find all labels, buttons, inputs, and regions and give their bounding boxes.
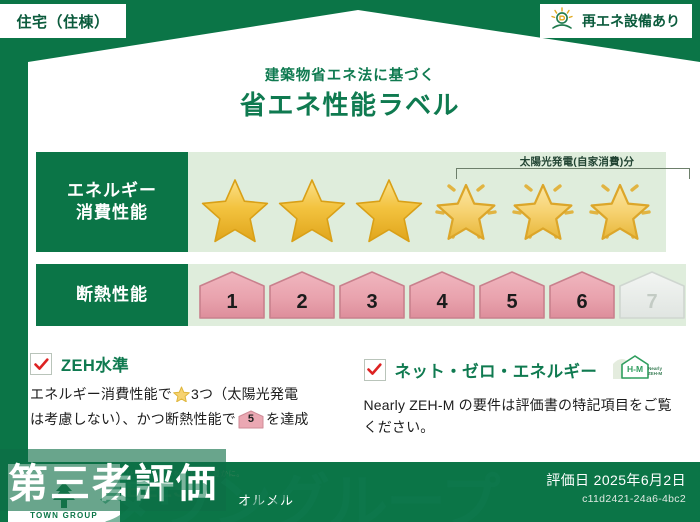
criteria-columns: ZEH水準 エネルギー消費性能で3つ（太陽光発電 は考慮しない）、かつ断熱性能で… (30, 352, 675, 438)
energy-label-card: 住宅（住棟） 再エネ設備あり 建築物省エネ法に基づく 省エネ性能ラベル (0, 0, 700, 522)
zeh-body-part-c: は考慮しない）、かつ断熱性能で (30, 411, 236, 427)
insulation-level-badge: 1 (198, 270, 266, 320)
insulation-level-number: 4 (408, 291, 476, 314)
label-title: 省エネ性能ラベル (0, 85, 700, 122)
insulation-performance-value: 1 2 3 4 (188, 264, 686, 326)
insulation-level-number: 6 (548, 291, 616, 314)
insulation-level-scale: 1 2 3 4 (188, 270, 686, 320)
insulation-level-number: 5 (478, 291, 546, 314)
insulation-level-number: 7 (618, 291, 686, 314)
star-icon (173, 386, 190, 409)
insulation-badge-inline-number: 5 (238, 411, 264, 428)
energy-performance-value: 太陽光発電(自家消費)分 (188, 152, 666, 252)
evaluation-date: 評価日 2025年6月2日 (546, 470, 686, 490)
bels-mark: BELS (126, 479, 244, 501)
brand-name: オルメル (238, 490, 294, 509)
label-footer: TOWN GROUP ひとを、まちを、もっと豊かに。 BELS オルメル 評価日… (0, 462, 700, 522)
zeh-body-part-d: を達成 (266, 411, 309, 427)
insulation-badge-inline: 5 (238, 410, 264, 429)
insulation-key-label: 断熱性能 (76, 284, 148, 306)
svg-text:H-M: H-M (627, 364, 643, 374)
insulation-performance-key: 断熱性能 (36, 264, 188, 326)
zeh-criteria-header: ZEH水準 (30, 352, 342, 376)
netzero-criteria-body: Nearly ZEH-M の要件は評価書の特記項目をご覧ください。 (364, 395, 676, 438)
building-type-label: 住宅（住棟） (16, 11, 109, 32)
netzero-criteria-column: ネット・ゼロ・エネルギー H-M Nearly ZEH-M Nearly ZEH… (364, 352, 676, 438)
tree-logo-icon (36, 479, 92, 511)
zeh-body-part-b: 3つ（太陽光発電 (191, 386, 298, 402)
evaluation-id: c11d2421-24a6-4bc2 (546, 493, 686, 505)
town-group-label: TOWN GROUP (30, 511, 98, 520)
insulation-level-badge: 4 (408, 270, 476, 320)
solar-annotation-label: 太陽光発電(自家消費)分 (462, 154, 692, 169)
insulation-level-badge: 2 (268, 270, 336, 320)
insulation-level-number: 2 (268, 291, 336, 314)
insulation-level-number: 1 (198, 291, 266, 314)
energy-key-line2: 消費性能 (76, 202, 148, 224)
town-group-logo: TOWN GROUP (8, 464, 120, 522)
solar-sun-icon (549, 7, 575, 36)
zeh-body-part-a: エネルギー消費性能で (30, 386, 172, 402)
star-icon-solar (506, 174, 580, 244)
check-icon (364, 359, 386, 381)
zeh-criteria-column: ZEH水準 エネルギー消費性能で3つ（太陽光発電 は考慮しない）、かつ断熱性能で… (30, 352, 342, 438)
check-icon (30, 353, 52, 375)
star-icon-solar (583, 174, 657, 244)
insulation-level-number: 3 (338, 291, 406, 314)
insulation-level-badge: 6 (548, 270, 616, 320)
energy-performance-row: エネルギー 消費性能 太陽光発電(自家消費)分 (36, 152, 666, 252)
netzero-criteria-header: ネット・ゼロ・エネルギー H-M Nearly ZEH-M (364, 352, 676, 387)
energy-key-line1: エネルギー (67, 180, 157, 202)
energy-performance-key: エネルギー 消費性能 (36, 152, 188, 252)
star-icon-filled (198, 174, 272, 244)
star-icon-solar (429, 174, 503, 244)
evaluation-info: 評価日 2025年6月2日 c11d2421-24a6-4bc2 (546, 470, 686, 505)
insulation-level-badge: 3 (338, 270, 406, 320)
bels-logo: ひとを、まちを、もっと豊かに。 BELS (126, 468, 244, 501)
zeh-criteria-body: エネルギー消費性能で3つ（太陽光発電 は考慮しない）、かつ断熱性能で5を達成 (30, 384, 342, 430)
zeh-m-logo-icon: H-M Nearly ZEH-M (610, 352, 662, 387)
insulation-level-badge: 5 (478, 270, 546, 320)
insulation-level-badge-inactive: 7 (618, 270, 686, 320)
insulation-performance-row: 断熱性能 1 2 (36, 264, 666, 326)
star-rating (188, 174, 657, 244)
label-subtitle: 建築物省エネ法に基づく (0, 64, 700, 85)
star-icon-filled (275, 174, 349, 244)
netzero-criteria-title: ネット・ゼロ・エネルギー (395, 358, 598, 382)
svg-text:ZEH-M: ZEH-M (648, 371, 662, 376)
star-icon-filled (352, 174, 426, 244)
renewable-badge-label: 再エネ設備あり (582, 11, 680, 31)
zeh-criteria-title: ZEH水準 (61, 352, 129, 376)
building-type-chip: 住宅（住棟） (0, 4, 126, 38)
renewable-equipment-badge: 再エネ設備あり (540, 4, 692, 38)
